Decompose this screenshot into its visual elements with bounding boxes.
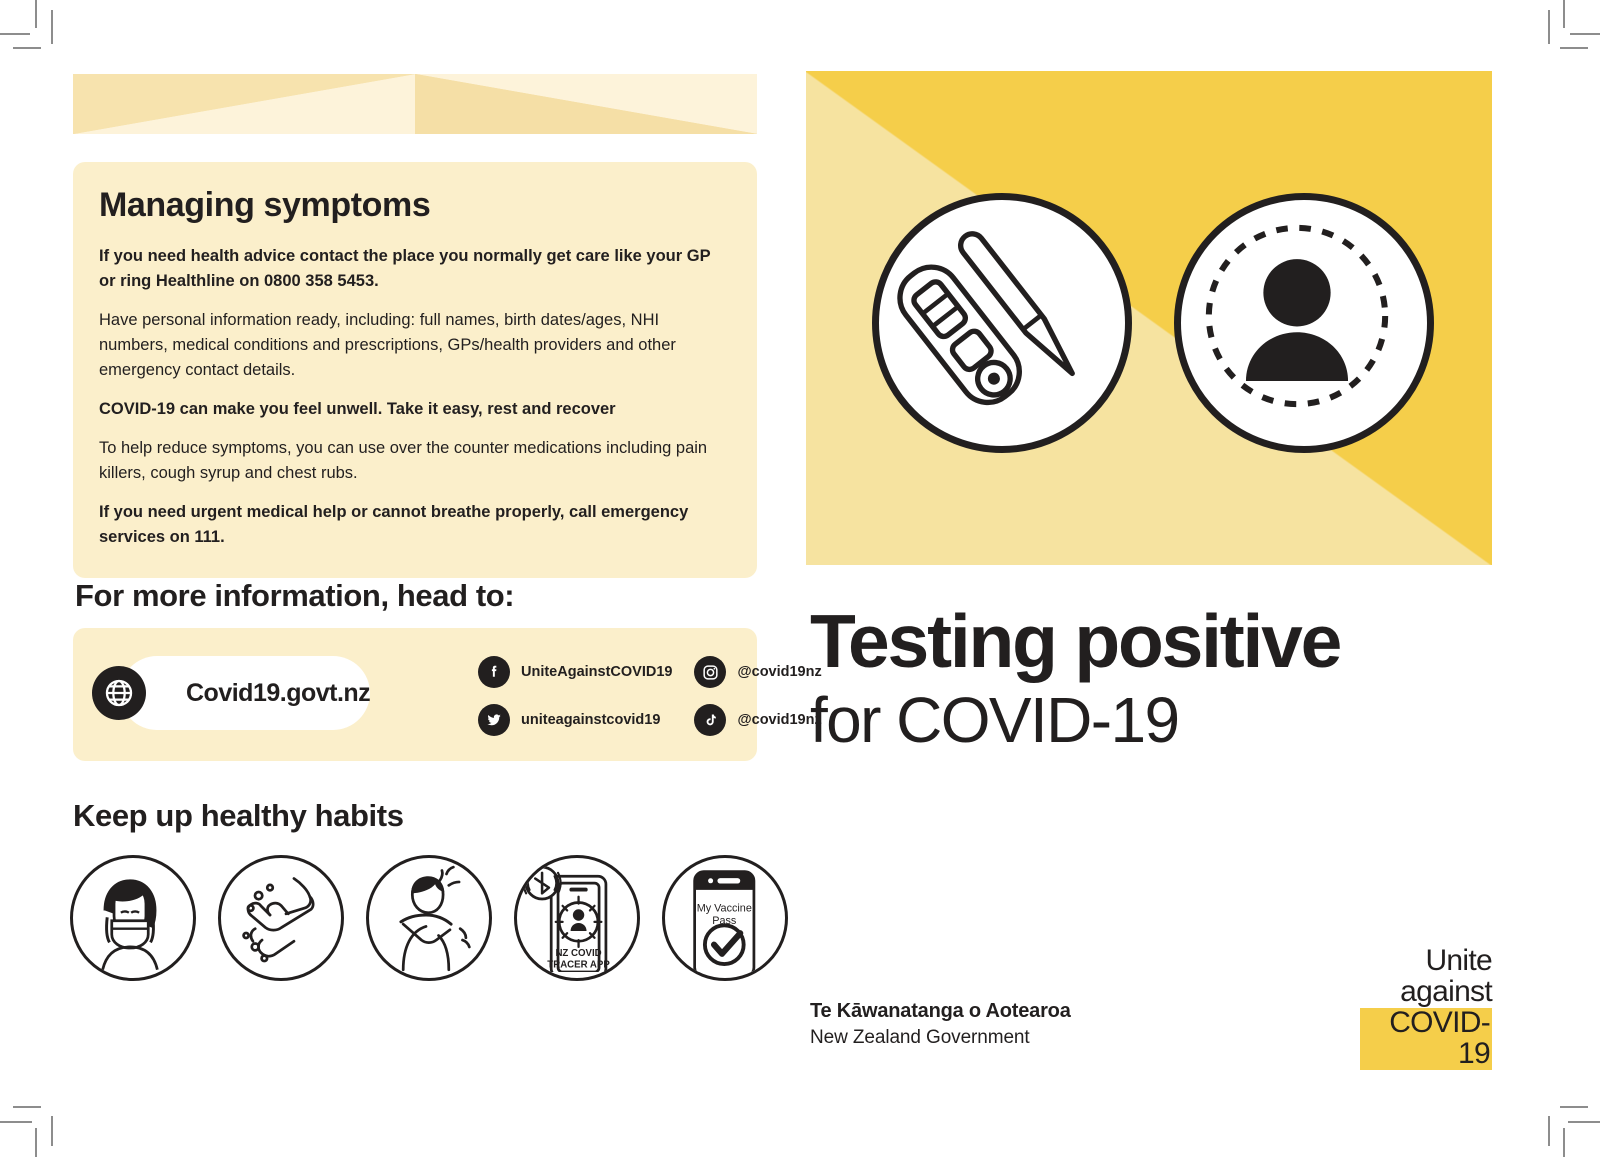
wash-hands-icon xyxy=(218,855,344,981)
nz-government-logo: Te Kāwanatanga o Aotearoa New Zealand Go… xyxy=(810,1000,1071,1049)
unite-logo-line1: Unite xyxy=(1360,946,1492,977)
decorative-band xyxy=(73,74,757,134)
person-isolation-icon xyxy=(1174,193,1434,453)
crop-mark-tl-h2 xyxy=(13,47,41,49)
crop-mark-tl-h1 xyxy=(0,33,30,35)
crop-mark-br-v1 xyxy=(1563,1128,1565,1157)
decorative-wedge-right xyxy=(415,74,757,134)
website-url-text: Covid19.govt.nz xyxy=(186,679,370,708)
symptoms-paragraph-medications: To help reduce symptoms, you can use ove… xyxy=(99,436,731,486)
crop-mark-bl-h2 xyxy=(0,1121,32,1123)
symptoms-paragraph-personal-info: Have personal information ready, includi… xyxy=(99,308,731,383)
unite-logo-line3: COVID-19 xyxy=(1360,1008,1492,1070)
vaccine-pass-icon: My Vaccine Pass xyxy=(662,855,788,981)
govt-logo-line2: New Zealand Government xyxy=(810,1027,1071,1049)
unite-against-covid-logo: Unite against COVID-19 xyxy=(1360,946,1492,1070)
crop-mark-tr-h2 xyxy=(1560,47,1588,49)
crop-mark-bl-v1 xyxy=(35,1128,37,1157)
social-link-facebook[interactable]: UniteAgainstCOVID19 xyxy=(478,656,672,688)
tracer-screen-line2: TRACER APP xyxy=(547,959,610,970)
crop-mark-bl-v2 xyxy=(51,1116,53,1146)
page-title: Testing positive for COVID-19 xyxy=(810,604,1510,757)
crop-mark-bl-h1 xyxy=(13,1106,41,1108)
crop-mark-tr-v1 xyxy=(1563,0,1565,28)
page-title-main: Testing positive xyxy=(810,604,1510,679)
cough-elbow-icon xyxy=(366,855,492,981)
symptoms-paragraph-emergency: If you need urgent medical help or canno… xyxy=(99,500,731,550)
govt-logo-line1: Te Kāwanatanga o Aotearoa xyxy=(810,1000,1071,1023)
globe-icon xyxy=(92,666,146,720)
tiktok-icon xyxy=(694,704,726,736)
social-link-tiktok[interactable]: @covid19nz xyxy=(694,704,821,736)
managing-symptoms-heading: Managing symptoms xyxy=(99,188,731,224)
vaccine-pass-line1: My Vaccine xyxy=(697,903,752,915)
facebook-icon xyxy=(478,656,510,688)
symptoms-paragraph-health-advice: If you need health advice contact the pl… xyxy=(99,244,731,294)
decorative-wedge-left xyxy=(73,74,415,134)
managing-symptoms-card: Managing symptoms If you need health adv… xyxy=(73,162,757,578)
website-url-pill[interactable]: Covid19.govt.nz xyxy=(120,656,370,730)
instagram-icon xyxy=(694,656,726,688)
contact-card: Covid19.govt.nz UniteAgainstCOVID19 xyxy=(73,628,757,761)
crop-mark-br-h1 xyxy=(1560,1106,1588,1108)
social-handle-twitter: uniteagainstcovid19 xyxy=(521,712,660,728)
crop-mark-tl-v1 xyxy=(35,0,37,28)
face-mask-icon xyxy=(70,855,196,981)
social-links: UniteAgainstCOVID19 @covid19nz uniteagai… xyxy=(478,656,822,736)
healthy-habits-heading: Keep up healthy habits xyxy=(73,798,404,834)
rat-test-kit-icon xyxy=(872,193,1132,453)
twitter-icon xyxy=(478,704,510,736)
social-link-twitter[interactable]: uniteagainstcovid19 xyxy=(478,704,672,736)
hero-illustration xyxy=(806,71,1492,565)
healthy-habits-row: NZ COVID TRACER APP My Vaccine Pass xyxy=(70,855,788,981)
social-handle-facebook: UniteAgainstCOVID19 xyxy=(521,664,672,680)
unite-logo-line2: against xyxy=(1360,977,1492,1008)
crop-mark-tl-v2 xyxy=(51,10,53,44)
crop-mark-tr-v2 xyxy=(1548,10,1550,44)
covid-tracer-app-icon: NZ COVID TRACER APP xyxy=(514,855,640,981)
vaccine-pass-line2: Pass xyxy=(712,915,737,927)
page-title-sub: for COVID-19 xyxy=(810,685,1510,757)
crop-mark-br-h2 xyxy=(1568,1121,1600,1123)
crop-mark-br-v2 xyxy=(1548,1116,1550,1146)
crop-mark-tr-h1 xyxy=(1570,33,1600,35)
tracer-screen-line1: NZ COVID xyxy=(555,948,601,959)
more-information-heading: For more information, head to: xyxy=(75,578,514,614)
symptoms-paragraph-rest-recover: COVID-19 can make you feel unwell. Take … xyxy=(99,397,731,422)
social-link-instagram[interactable]: @covid19nz xyxy=(694,656,821,688)
